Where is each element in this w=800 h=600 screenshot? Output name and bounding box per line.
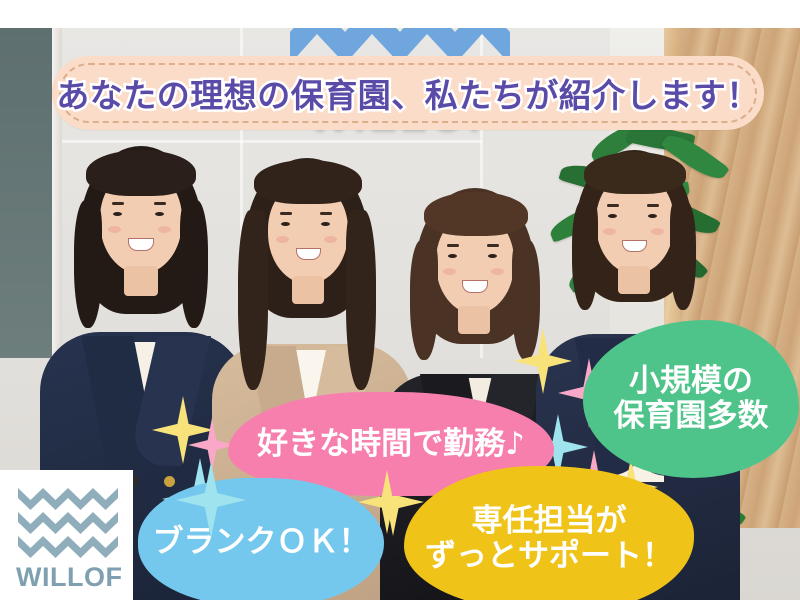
bubble-line-1: 専任担当が (425, 504, 673, 539)
headline-text: あなたの理想の保育園、私たちが紹介します！ (52, 69, 764, 117)
bubble-line-1: 好きな時間で勤務♪ (257, 427, 525, 462)
bubble-line-1: 小規模の (614, 364, 769, 399)
bubble-line-2: 保育園多数 (614, 399, 769, 434)
bubble-line-1: ブランクＯＫ！ (153, 525, 370, 560)
bubble-dedicated-support[interactable]: 専任担当が ずっとサポート！ (404, 466, 694, 600)
bubble-line-2: ずっとサポート！ (425, 539, 673, 574)
logo-wordmark: WILLOF (16, 562, 122, 593)
zigzag-icon (18, 486, 118, 558)
headline-banner: あなたの理想の保育園、私たちが紹介します！ (52, 56, 764, 130)
bubble-blank-ok[interactable]: ブランクＯＫ！ (138, 478, 384, 600)
wall-seam (62, 140, 482, 143)
advertisement-canvas: WILLOF (0, 0, 800, 600)
willof-corner-logo[interactable]: WILLOF (0, 470, 133, 600)
